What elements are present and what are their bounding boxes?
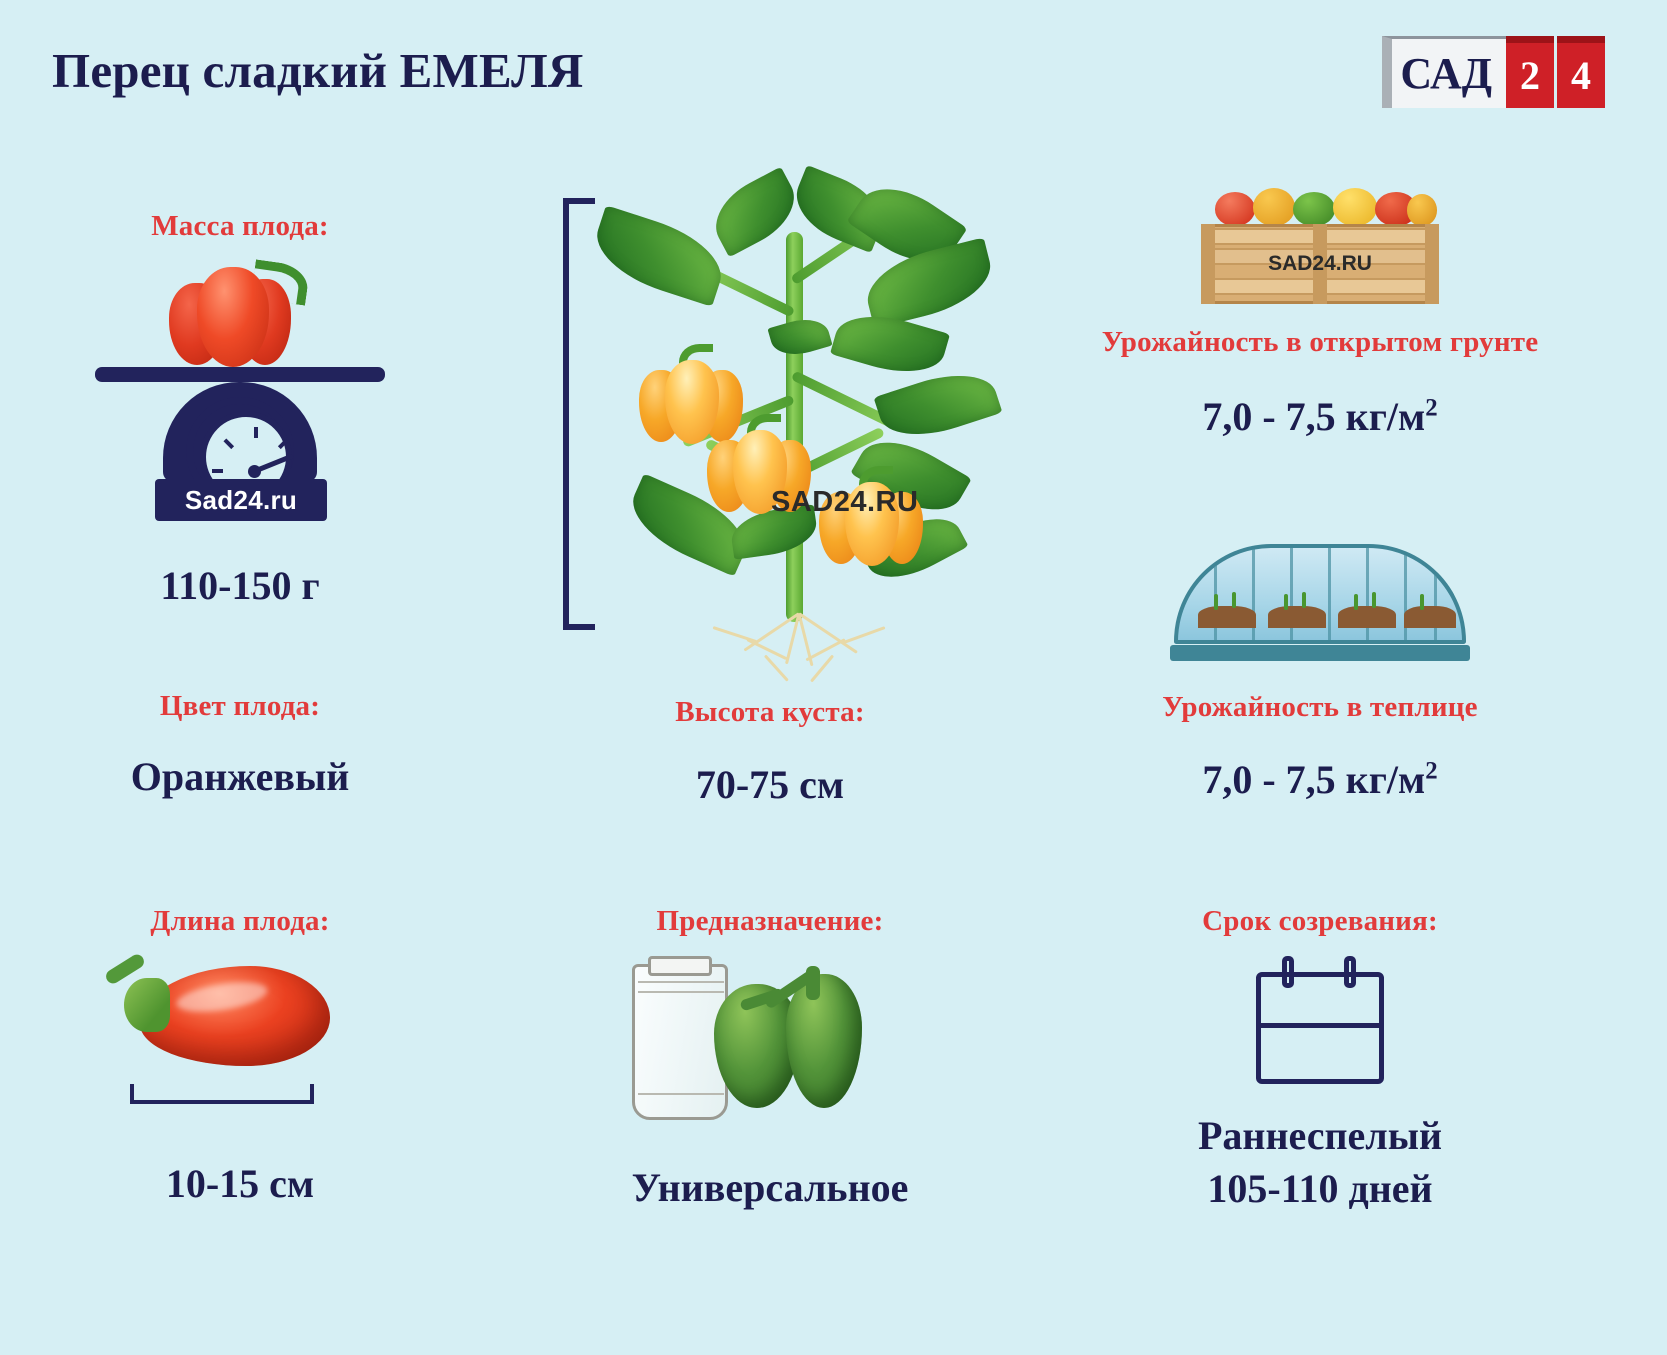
red-pepper-icon — [167, 263, 295, 367]
pepper-plant-illustration: SAD24.RU — [535, 180, 1005, 680]
scale-watermark: Sad24.ru — [185, 485, 297, 516]
plant-stem — [786, 232, 803, 622]
greenhouse-icon — [1170, 536, 1470, 661]
bush-height-label: Высота куста: — [520, 696, 1020, 729]
plant-leaf — [874, 361, 1003, 449]
cell-ripening-period: Срок созревания: Раннеспелый 105-110 дне… — [1010, 905, 1630, 1212]
yield-greenhouse-number: 7,0 - 7,5 кг/м — [1202, 757, 1425, 802]
plant-roots — [695, 612, 915, 684]
cell-fruit-color: Цвет плода: Оранжевый — [30, 690, 450, 800]
fruit-length-value: 10-15 см — [30, 1160, 450, 1207]
site-logo[interactable]: САД 2 4 — [1382, 36, 1605, 108]
green-pepper-icon — [786, 974, 862, 1108]
yield-greenhouse-unit-sup: 2 — [1425, 758, 1437, 785]
calendar-icon — [1256, 956, 1384, 1084]
height-bracket — [563, 198, 595, 630]
page-title: Перец сладкий ЕМЕЛЯ — [52, 42, 583, 99]
yield-open-ground-unit-sup: 2 — [1425, 395, 1437, 422]
logo-digit-2: 2 — [1506, 36, 1554, 108]
fruit-color-label: Цвет плода: — [30, 690, 450, 723]
cell-bush-height: SAD24.RU Высота куста: 70-75 см — [520, 180, 1020, 808]
crate-watermark: SAD24.RU — [1201, 252, 1439, 276]
ripening-period-label: Срок созревания: — [1010, 905, 1630, 938]
ripening-period-value-1: Раннеспелый — [1010, 1112, 1630, 1159]
purpose-label: Предназначение: — [520, 905, 1020, 938]
plant-leaf — [859, 237, 998, 328]
long-red-pepper-icon — [118, 956, 334, 1076]
header: Перец сладкий ЕМЕЛЯ САД 2 4 — [0, 0, 1667, 150]
plant-leaf — [586, 205, 731, 307]
fruit-length-illustration — [90, 952, 390, 1132]
bush-height-value: 70-75 см — [520, 761, 1020, 808]
fruit-color-value: Оранжевый — [30, 753, 450, 800]
scale-plate — [95, 367, 385, 382]
cell-fruit-mass: Масса плода: Sad24.ru — [30, 210, 450, 609]
logo-digit-4: 4 — [1557, 36, 1605, 108]
length-bracket — [130, 1084, 314, 1104]
plant-watermark: SAD24.RU — [771, 486, 918, 519]
logo-word: САД — [1400, 52, 1492, 96]
cell-purpose: Предназначение: Универсальное — [520, 905, 1020, 1211]
yield-greenhouse-label: Урожайность в теплице — [1010, 691, 1630, 724]
yield-open-ground-value: 7,0 - 7,5 кг/м2 — [1010, 393, 1630, 440]
purpose-value: Универсальное — [520, 1164, 1020, 1211]
vegetable-crate-icon: SAD24.RU — [1201, 186, 1439, 304]
cell-yield-greenhouse: Урожайность в теплице 7,0 - 7,5 кг/м2 — [1010, 536, 1630, 803]
ripening-period-value-2: 105-110 дней — [1010, 1165, 1630, 1212]
yield-open-ground-number: 7,0 - 7,5 кг/м — [1202, 394, 1425, 439]
yield-greenhouse-value: 7,0 - 7,5 кг/м2 — [1010, 756, 1630, 803]
kitchen-scale-icon: Sad24.ru — [95, 255, 385, 510]
purpose-illustration — [610, 950, 930, 1130]
cell-yield-open-ground: SAD24.RU Урожайность в открытом грунте 7… — [1010, 186, 1630, 440]
fruit-mass-value: 110-150 г — [30, 562, 450, 609]
yield-open-ground-label: Урожайность в открытом грунте — [1010, 326, 1630, 359]
fruit-length-label: Длина плода: — [30, 905, 450, 938]
cell-fruit-length: Длина плода: 10-15 см — [30, 905, 450, 1207]
scale-base-plate: Sad24.ru — [155, 479, 327, 521]
logo-word-box: САД — [1382, 36, 1506, 108]
fruit-mass-label: Масса плода: — [30, 210, 450, 243]
